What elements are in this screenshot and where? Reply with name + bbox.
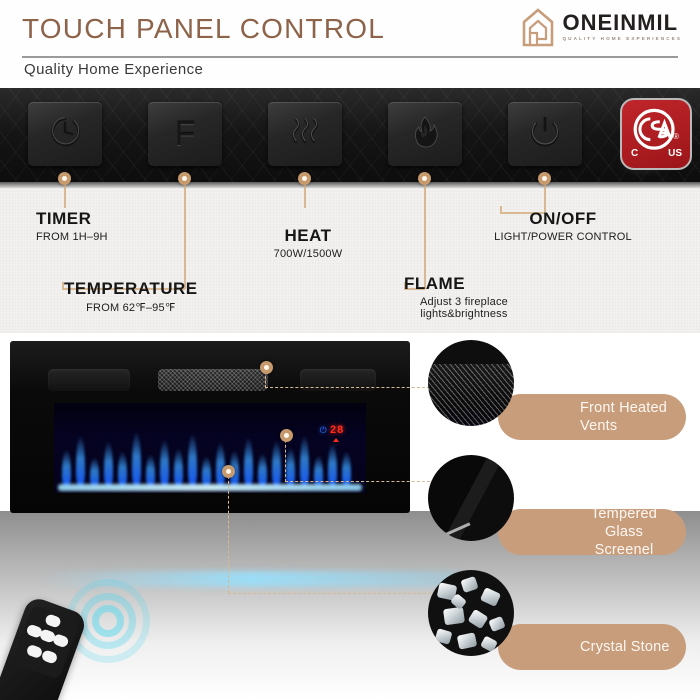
label-flame: FLAME Adjust 3 fireplace lights&brightne… xyxy=(404,274,524,320)
label-flame-sub-line2: lights&brightness xyxy=(404,308,524,320)
csa-us-mark: US xyxy=(668,148,682,159)
callout-glass-label-line1: Tempered Glass xyxy=(591,506,657,540)
hotspot-dot-crystal xyxy=(222,465,235,478)
header: TOUCH PANEL CONTROL Quality Home Experie… xyxy=(0,0,700,88)
connector-dot-timer xyxy=(58,172,71,185)
panel-texture xyxy=(0,88,700,188)
connector-dot-temperature xyxy=(178,172,191,185)
label-heat: HEAT 700W/1500W xyxy=(248,226,368,260)
connector-dot-flame xyxy=(418,172,431,185)
brand-logo: ONEINMIL QUALITY HOME EXPERIENCES xyxy=(520,6,683,48)
connector-line-timer xyxy=(64,184,66,208)
heat-waves-icon xyxy=(284,111,326,158)
connector-dot-heat xyxy=(298,172,311,185)
vent-center-mesh xyxy=(158,369,268,391)
logo-text-block: ONEINMIL QUALITY HOME EXPERIENCES xyxy=(563,12,683,42)
label-temperature-sub: FROM 62℉–95℉ xyxy=(64,301,198,314)
display-indicator-icon xyxy=(333,438,339,442)
label-heat-sub: 700W/1500W xyxy=(248,248,368,260)
page-title: TOUCH PANEL CONTROL xyxy=(22,13,385,45)
page-subtitle: Quality Home Experience xyxy=(24,61,203,78)
callout-vents-label: Front Heated Vents xyxy=(580,399,686,435)
hotspot-dot-glass xyxy=(280,429,293,442)
infographic-page: TOUCH PANEL CONTROL Quality Home Experie… xyxy=(0,0,700,700)
logo-tagline: QUALITY HOME EXPERIENCES xyxy=(563,37,683,42)
label-flame-title: FLAME xyxy=(404,274,524,294)
dash-crystal-v xyxy=(228,471,229,593)
logo-name: ONEINMIL xyxy=(563,12,683,34)
clock-timer-icon xyxy=(44,111,86,158)
heat-button[interactable] xyxy=(268,102,342,166)
callout-crystal-label: Crystal Stone xyxy=(580,638,670,656)
label-onoff: ON/OFF LIGHT/POWER CONTROL xyxy=(488,209,638,243)
tempered-glass-screen: ⏻ 28 xyxy=(54,403,366,493)
callout-crystal-image xyxy=(428,570,514,656)
power-icon xyxy=(524,111,566,158)
csa-c-mark: C xyxy=(631,148,638,159)
callout-vents-image xyxy=(428,340,514,426)
csa-certification-badge: C US ® xyxy=(620,98,692,170)
label-heat-title: HEAT xyxy=(248,226,368,246)
connector-line-temperature xyxy=(184,184,186,289)
led-display: ⏻ 28 xyxy=(320,425,344,437)
callout-glass-label-line2: Screenel xyxy=(595,542,654,558)
hotspot-dot-vents xyxy=(260,361,273,374)
electric-fireplace-unit: ⏻ 28 xyxy=(10,341,410,513)
house-outline-icon xyxy=(520,6,556,48)
label-timer-title: TIMER xyxy=(36,209,108,229)
label-timer-sub: FROM 1H–9H xyxy=(36,231,108,243)
label-timer: TIMER FROM 1H–9H xyxy=(36,209,108,243)
label-temperature-title: TEMPERATURE xyxy=(64,279,198,299)
label-onoff-sub: LIGHT/POWER CONTROL xyxy=(488,231,638,243)
callout-glass-image xyxy=(428,455,514,541)
timer-button[interactable] xyxy=(28,102,102,166)
callout-glass-pill: Tempered Glass Screenel xyxy=(498,509,686,555)
dash-glass-v xyxy=(285,435,286,482)
registered-mark: ® xyxy=(673,132,679,141)
touch-control-panel: F xyxy=(0,88,700,188)
connector-line-power xyxy=(544,184,546,212)
fahrenheit-icon: F xyxy=(175,115,196,154)
label-onoff-title: ON/OFF xyxy=(488,209,638,229)
callout-crystal-pill: Crystal Stone xyxy=(498,624,686,670)
dash-vents-h xyxy=(265,387,435,388)
flame-button[interactable] xyxy=(388,102,462,166)
connector-line-heat xyxy=(304,184,306,208)
flame-icon xyxy=(404,111,446,158)
dash-glass-h xyxy=(285,481,435,482)
display-power-icon: ⏻ xyxy=(320,425,327,436)
label-temperature: TEMPERATURE FROM 62℉–95℉ xyxy=(64,279,198,314)
header-divider xyxy=(22,56,678,58)
vent-left xyxy=(48,369,130,391)
display-readout: 28 xyxy=(330,425,344,437)
connector-dot-power xyxy=(538,172,551,185)
temperature-button[interactable]: F xyxy=(148,102,222,166)
dash-crystal-h xyxy=(228,593,436,594)
callout-vents-pill: Front Heated Vents xyxy=(498,394,686,440)
crystal-ember-bed xyxy=(58,484,362,491)
power-button[interactable] xyxy=(508,102,582,166)
label-flame-sub-line1: Adjust 3 fireplace xyxy=(404,296,524,308)
